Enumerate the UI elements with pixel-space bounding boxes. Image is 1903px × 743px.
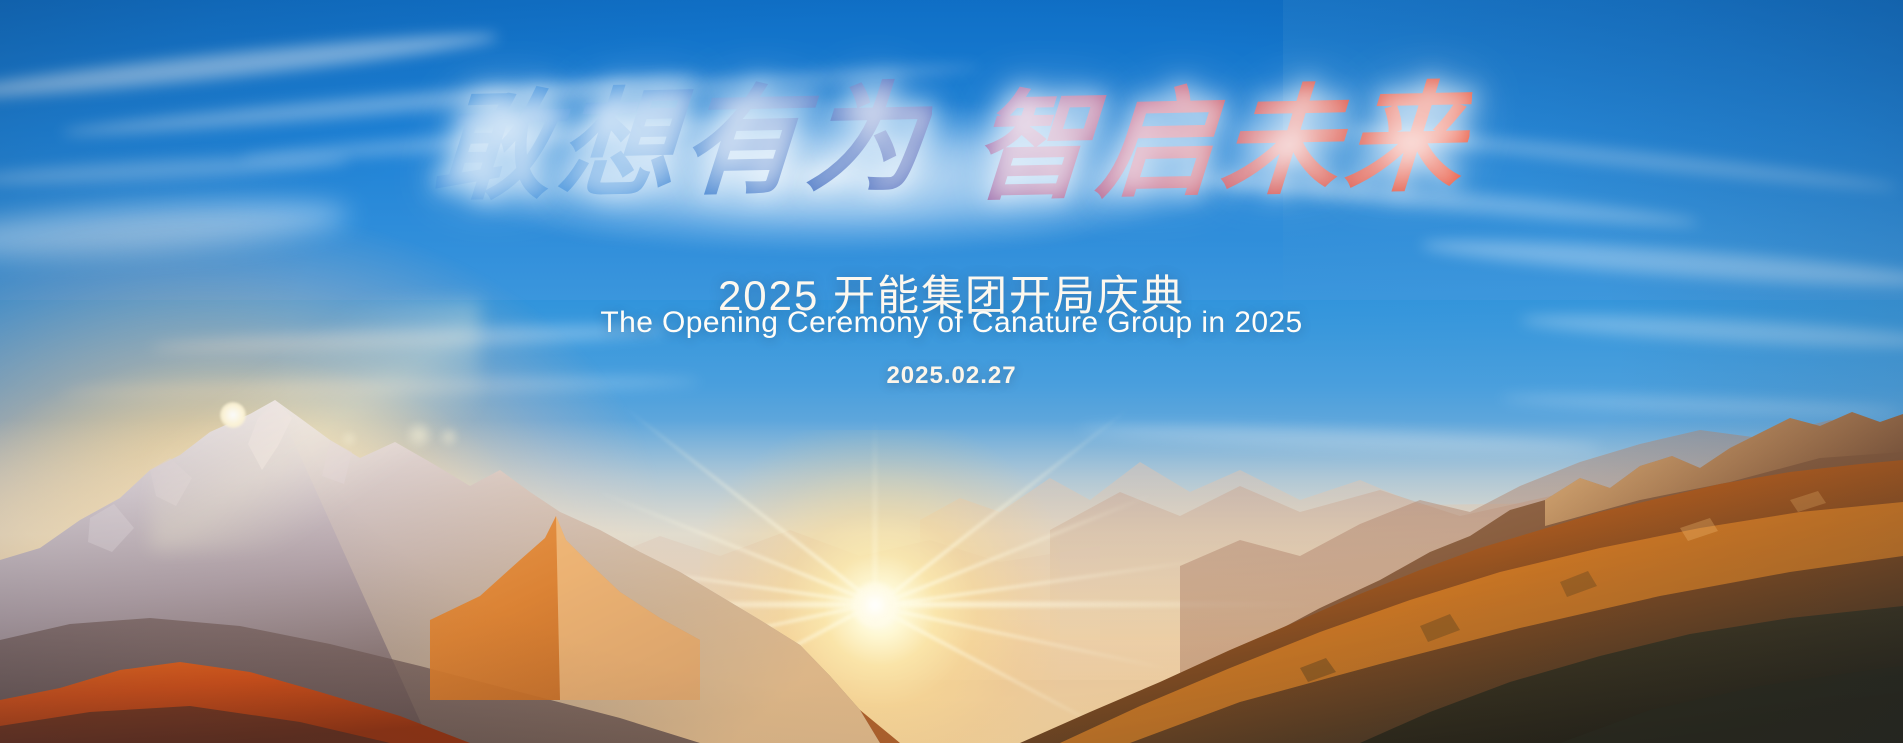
event-banner: 敢想有为 智启未来 2025 开能集团开局庆典 The Opening Cere… [0,0,1903,743]
headline-part-2: 智启未来 [968,73,1473,213]
headline-part-1: 敢想有为 [430,73,935,213]
headline: 敢想有为 智启未来 [0,78,1903,208]
event-date: 2025.02.27 [0,362,1903,390]
subtitle-english: The Opening Ceremony of Canature Group i… [0,306,1903,340]
